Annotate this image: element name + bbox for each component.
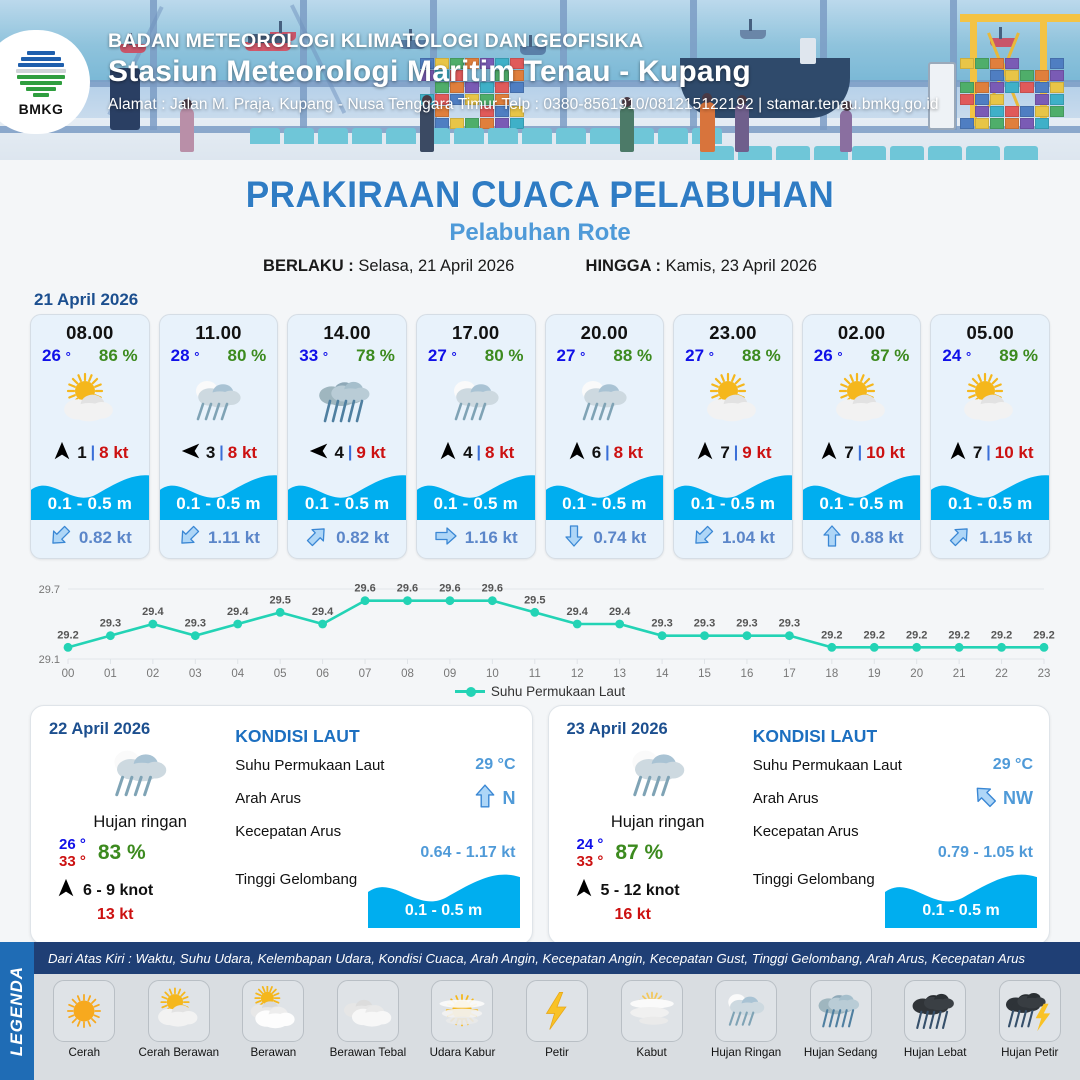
daily-wind-range: 6 - 9 knot (83, 882, 153, 900)
card-time: 02.00 (803, 315, 921, 344)
card-wind-speed: 10 kt (995, 443, 1034, 463)
card-temp-humidity-row: 26 ° 86 % (31, 344, 149, 366)
daily-left: 23 April 2026 Hujan ringan 24 ° 33 ° 87 … (549, 706, 749, 944)
card-wind-direction-value: 3 (206, 443, 215, 463)
card-wave-height: 0.1 - 0.5 m (931, 494, 1049, 514)
legend-item: Berawan Tebal (322, 980, 415, 1080)
card-wind-direction-value: 7 (720, 443, 729, 463)
card-current-row: 1.15 kt (931, 522, 1049, 554)
hourly-card: 08.00 26 ° 86 % 1 | 8 kt 0.1 - 0.5 m 0.8 (30, 314, 150, 559)
svg-text:29.3: 29.3 (694, 618, 715, 630)
current-direction-row: Arah Arus NW (753, 783, 1033, 814)
svg-text:29.4: 29.4 (227, 606, 249, 618)
legend-item: Kabut (605, 980, 698, 1080)
card-time: 23.00 (674, 315, 792, 344)
card-humidity: 88 % (613, 346, 652, 366)
wind-direction-arrow-icon (180, 440, 202, 467)
hourly-card: 14.00 33 ° 78 % 4 | 9 kt 0.1 - 0.5 m (287, 314, 407, 559)
current-direction-arrow-icon (562, 524, 586, 553)
card-wind-speed: 9 kt (742, 443, 771, 463)
svg-text:29.4: 29.4 (609, 606, 631, 618)
svg-text:17: 17 (783, 668, 796, 680)
svg-text:29.5: 29.5 (269, 594, 290, 606)
current-direction-value-group: N (472, 783, 516, 814)
card-temperature: 28 ° (171, 346, 200, 366)
daily-date: 22 April 2026 (49, 720, 231, 739)
wind-direction-arrow-icon (55, 877, 77, 904)
hujan-ringan-icon (715, 980, 777, 1042)
legend-item-label: Hujan Sedang (804, 1046, 878, 1059)
svg-text:20: 20 (910, 668, 923, 680)
svg-text:11: 11 (529, 668, 541, 680)
card-wave-graphic: 0.1 - 0.5 m (931, 468, 1049, 520)
svg-text:29.3: 29.3 (779, 618, 800, 630)
hourly-card: 23.00 27 ° 88 % 7 | 9 kt 0.1 - 0.5 m 1.0 (673, 314, 793, 559)
card-humidity: 78 % (356, 346, 395, 366)
daily-temp-humidity-row: 24 ° 33 ° 87 % (567, 836, 749, 870)
cerah-berawan-icon (148, 980, 210, 1042)
card-wind-separator: | (219, 444, 223, 462)
card-temp-humidity-row: 33 ° 78 % (288, 344, 406, 366)
svg-text:16: 16 (741, 668, 754, 680)
card-wind-speed: 8 kt (614, 443, 643, 463)
sst-label: Suhu Permukaan Laut (753, 757, 902, 774)
current-direction-arrow-icon (472, 783, 498, 814)
card-wind-direction-value: 6 (592, 443, 601, 463)
card-current-speed: 0.88 kt (851, 528, 904, 548)
legend-item: Berawan (227, 980, 320, 1080)
current-direction-row: Arah Arus N (235, 783, 515, 814)
card-humidity: 80 % (228, 346, 267, 366)
card-wind-row: 3 | 8 kt (160, 438, 278, 468)
svg-text:01: 01 (104, 668, 117, 680)
card-time: 20.00 (546, 315, 664, 344)
berawan-icon (242, 980, 304, 1042)
daily-wind-row: 5 - 12 knot (567, 877, 749, 904)
card-current-speed: 1.16 kt (465, 528, 518, 548)
bmkg-logo-mark (15, 47, 67, 99)
current-direction-arrow-icon (305, 524, 329, 553)
card-wave-height: 0.1 - 0.5 m (546, 494, 664, 514)
card-temperature: 33 ° (299, 346, 328, 366)
card-wind-row: 4 | 8 kt (417, 438, 535, 468)
card-wind-direction-value: 7 (844, 443, 853, 463)
svg-text:10: 10 (486, 668, 499, 680)
current-direction-arrow-icon (691, 524, 715, 553)
daily-humidity: 83 % (98, 841, 146, 865)
hourly-card: 11.00 28 ° 80 % 3 | 8 kt 0.1 - 0.5 m 1.1 (159, 314, 279, 559)
card-current-row: 0.88 kt (803, 522, 921, 554)
current-speed-value: 0.64 - 1.17 kt (235, 844, 515, 862)
daily-wind-row: 6 - 9 knot (49, 877, 231, 904)
svg-text:07: 07 (359, 668, 372, 680)
svg-text:29.2: 29.2 (1033, 629, 1054, 641)
hourly-card: 20.00 27 ° 88 % 6 | 8 kt 0.1 - 0.5 m 0.7 (545, 314, 665, 559)
card-wave-graphic: 0.1 - 0.5 m (31, 468, 149, 520)
sea-condition-title: KONDISI LAUT (753, 726, 1033, 747)
card-wind-row: 6 | 8 kt (546, 438, 664, 468)
svg-text:14: 14 (656, 668, 669, 680)
legend-item: Udara Kabur (416, 980, 509, 1080)
svg-text:18: 18 (825, 668, 838, 680)
card-temp-humidity-row: 26 ° 87 % (803, 344, 921, 366)
svg-text:29.6: 29.6 (439, 583, 460, 595)
current-direction-arrow-icon (972, 783, 998, 814)
legend-item-label: Hujan Petir (1001, 1046, 1058, 1059)
daily-temp-min: 24 ° (577, 836, 604, 853)
hourly-card: 17.00 27 ° 80 % 4 | 8 kt 0.1 - 0.5 m 1.1 (416, 314, 536, 559)
svg-text:29.6: 29.6 (397, 583, 418, 595)
wind-direction-arrow-icon (694, 440, 716, 467)
petir-icon (526, 980, 588, 1042)
daily-gust: 13 kt (49, 906, 231, 924)
current-direction-arrow-icon (948, 524, 972, 553)
card-temperature: 26 ° (814, 346, 843, 366)
wave-height-label: Tinggi Gelombang (235, 871, 357, 888)
sst-label: Suhu Permukaan Laut (235, 757, 384, 774)
card-temp-humidity-row: 27 ° 88 % (674, 344, 792, 366)
cerah-icon (53, 980, 115, 1042)
legend-note: Dari Atas Kiri : Waktu, Suhu Udara, Kele… (48, 951, 1025, 966)
legend-side-label: LEGENDA (7, 966, 27, 1056)
card-wind-direction-value: 1 (77, 443, 86, 463)
card-humidity: 89 % (999, 346, 1038, 366)
cerah-berawan-icon (31, 368, 149, 436)
svg-text:13: 13 (613, 668, 626, 680)
card-wind-separator: | (986, 444, 990, 462)
svg-text:29.3: 29.3 (185, 618, 206, 630)
card-wave-height: 0.1 - 0.5 m (417, 494, 535, 514)
card-wave-graphic: 0.1 - 0.5 m (803, 468, 921, 520)
card-wind-speed: 8 kt (485, 443, 514, 463)
svg-text:09: 09 (444, 668, 457, 680)
card-wind-direction-value: 4 (463, 443, 472, 463)
legend-item-label: Hujan Ringan (711, 1046, 781, 1059)
station-address: Alamat : Jalan M. Praja, Kupang - Nusa T… (108, 96, 939, 114)
svg-text:15: 15 (698, 668, 711, 680)
daily-left: 22 April 2026 Hujan ringan 26 ° 33 ° 83 … (31, 706, 231, 944)
current-direction-arrow-icon (434, 524, 458, 553)
current-speed-row: Kecepatan Arus (235, 823, 515, 840)
legend-icon-list: Cerah Cerah Berawan Berawan (34, 974, 1080, 1080)
station-name: Stasiun Meteorologi Maritim Tenau - Kupa… (108, 55, 939, 89)
svg-text:00: 00 (62, 668, 75, 680)
svg-text:12: 12 (571, 668, 584, 680)
card-wave-graphic: 0.1 - 0.5 m (288, 468, 406, 520)
current-direction-arrow-icon (177, 524, 201, 553)
svg-text:23: 23 (1038, 668, 1051, 680)
daily-panel: 23 April 2026 Hujan ringan 24 ° 33 ° 87 … (548, 705, 1051, 945)
wave-height-label: Tinggi Gelombang (753, 871, 875, 888)
current-direction-arrow-icon (48, 524, 72, 553)
sea-condition-title: KONDISI LAUT (235, 726, 515, 747)
legend-item-label: Hujan Lebat (904, 1046, 967, 1059)
validity-row: BERLAKU : Selasa, 21 April 2026 HINGGA :… (0, 257, 1080, 276)
svg-text:03: 03 (189, 668, 202, 680)
kabut-icon (621, 980, 683, 1042)
bmkg-logo-text: BMKG (19, 101, 64, 117)
svg-text:29.5: 29.5 (524, 594, 545, 606)
card-temp-humidity-row: 27 ° 80 % (417, 344, 535, 366)
card-wave-graphic: 0.1 - 0.5 m (674, 468, 792, 520)
daily-right: KONDISI LAUT Suhu Permukaan Laut 29 °C A… (231, 706, 531, 944)
svg-text:29.2: 29.2 (991, 629, 1012, 641)
legend-item-label: Berawan (250, 1046, 296, 1059)
legend-item: Hujan Petir (983, 980, 1076, 1080)
sst-value: 29 °C (993, 756, 1033, 774)
current-direction-label: Arah Arus (753, 790, 819, 807)
legend-item-label: Petir (545, 1046, 569, 1059)
card-humidity: 80 % (485, 346, 524, 366)
svg-text:29.3: 29.3 (736, 618, 757, 630)
svg-text:29.2: 29.2 (864, 629, 885, 641)
card-wind-row: 7 | 10 kt (803, 438, 921, 468)
svg-text:29.4: 29.4 (312, 606, 334, 618)
card-current-row: 0.82 kt (288, 522, 406, 554)
current-speed-label: Kecepatan Arus (235, 823, 341, 840)
hujan-petir-icon (999, 980, 1061, 1042)
legend-note-bar: Dari Atas Kiri : Waktu, Suhu Udara, Kele… (34, 942, 1080, 974)
card-current-row: 0.74 kt (546, 522, 664, 554)
daily-condition: Hujan ringan (49, 813, 231, 832)
card-temperature: 24 ° (942, 346, 971, 366)
card-wave-height: 0.1 - 0.5 m (674, 494, 792, 514)
valid-from-label: BERLAKU : (263, 257, 354, 275)
card-current-speed: 0.82 kt (79, 528, 132, 548)
card-current-row: 0.82 kt (31, 522, 149, 554)
svg-text:29.2: 29.2 (906, 629, 927, 641)
card-humidity: 87 % (871, 346, 910, 366)
hujan-ringan-icon (160, 368, 278, 436)
legend-item-label: Berawan Tebal (330, 1046, 407, 1059)
svg-text:02: 02 (146, 668, 159, 680)
current-direction-value: N (503, 788, 516, 809)
card-temperature: 27 ° (685, 346, 714, 366)
wind-direction-arrow-icon (573, 877, 595, 904)
card-time: 14.00 (288, 315, 406, 344)
card-wave-height: 0.1 - 0.5 m (803, 494, 921, 514)
card-wind-speed: 9 kt (356, 443, 385, 463)
hujan-lebat-icon (904, 980, 966, 1042)
svg-text:29.6: 29.6 (354, 583, 375, 595)
card-time: 05.00 (931, 315, 1049, 344)
card-wind-row: 4 | 9 kt (288, 438, 406, 468)
card-wind-row: 7 | 10 kt (931, 438, 1049, 468)
cerah-berawan-icon (674, 368, 792, 436)
card-humidity: 86 % (99, 346, 138, 366)
card-wave-graphic: 0.1 - 0.5 m (160, 468, 278, 520)
legend-item-label: Kabut (636, 1046, 666, 1059)
card-humidity: 88 % (742, 346, 781, 366)
card-temperature: 27 ° (428, 346, 457, 366)
wind-direction-arrow-icon (947, 440, 969, 467)
page-title: PRAKIRAAN CUACA PELABUHAN (27, 174, 1053, 216)
card-current-row: 1.04 kt (674, 522, 792, 554)
card-current-speed: 0.74 kt (593, 528, 646, 548)
svg-text:29.2: 29.2 (57, 629, 78, 641)
card-wind-speed: 10 kt (866, 443, 905, 463)
legend-item-label: Udara Kabur (430, 1046, 496, 1059)
card-temp-humidity-row: 24 ° 89 % (931, 344, 1049, 366)
valid-until-label: HINGGA : (586, 257, 661, 275)
card-current-row: 1.11 kt (160, 522, 278, 554)
daily-right: KONDISI LAUT Suhu Permukaan Laut 29 °C A… (749, 706, 1049, 944)
card-temperature: 27 ° (557, 346, 586, 366)
port-name: Pelabuhan Rote (0, 219, 1080, 247)
legend-item: Hujan Lebat (889, 980, 982, 1080)
daily-temp-humidity-row: 26 ° 33 ° 83 % (49, 836, 231, 870)
legend-item-label: Cerah Berawan (139, 1046, 220, 1059)
svg-text:29.2: 29.2 (948, 629, 969, 641)
svg-text:29.4: 29.4 (142, 606, 164, 618)
svg-text:08: 08 (401, 668, 414, 680)
current-speed-label: Kecepatan Arus (753, 823, 859, 840)
daily-gust: 16 kt (567, 906, 749, 924)
current-speed-value: 0.79 - 1.05 kt (753, 844, 1033, 862)
legend-item: Cerah Berawan (133, 980, 226, 1080)
card-wind-speed: 8 kt (99, 443, 128, 463)
daily-wave-graphic: 0.1 - 0.5 m (885, 866, 1037, 928)
svg-text:06: 06 (316, 668, 329, 680)
wind-direction-arrow-icon (308, 440, 330, 467)
valid-from-value: Selasa, 21 April 2026 (358, 257, 514, 275)
svg-text:19: 19 (868, 668, 881, 680)
legend-item-label: Cerah (68, 1046, 100, 1059)
card-wind-separator: | (477, 444, 481, 462)
daily-panel: 22 April 2026 Hujan ringan 26 ° 33 ° 83 … (30, 705, 533, 945)
current-direction-label: Arah Arus (235, 790, 301, 807)
daily-wave-graphic: 0.1 - 0.5 m (368, 866, 520, 928)
daily-temp-max: 33 ° (577, 853, 604, 870)
card-time: 17.00 (417, 315, 535, 344)
svg-text:29.2: 29.2 (821, 629, 842, 641)
hourly-card: 05.00 24 ° 89 % 7 | 10 kt 0.1 - 0.5 m 1. (930, 314, 1050, 559)
svg-text:22: 22 (995, 668, 1008, 680)
daily-forecast-panels: 22 April 2026 Hujan ringan 26 ° 33 ° 83 … (0, 699, 1080, 945)
card-current-speed: 0.82 kt (336, 528, 389, 548)
current-speed-row: Kecepatan Arus (753, 823, 1033, 840)
svg-text:29.4: 29.4 (567, 606, 589, 618)
daily-temp-min: 26 ° (59, 836, 86, 853)
card-wind-direction-value: 4 (334, 443, 343, 463)
daily-temp-max: 33 ° (59, 853, 86, 870)
agency-name: BADAN METEOROLOGI KLIMATOLOGI DAN GEOFIS… (108, 30, 939, 53)
sst-row: Suhu Permukaan Laut 29 °C (235, 756, 515, 774)
legend-item: Hujan Ringan (700, 980, 793, 1080)
card-wave-height: 0.1 - 0.5 m (160, 494, 278, 514)
card-wave-height: 0.1 - 0.5 m (288, 494, 406, 514)
current-direction-value-group: NW (972, 783, 1033, 814)
legend-side-title: LEGENDA (0, 942, 34, 1080)
wind-direction-arrow-icon (818, 440, 840, 467)
current-direction-value: NW (1003, 788, 1033, 809)
legend-item: Petir (511, 980, 604, 1080)
daily-date: 23 April 2026 (567, 720, 749, 739)
card-wave-height: 0.1 - 0.5 m (31, 494, 149, 514)
daily-humidity: 87 % (615, 841, 663, 865)
sst-value: 29 °C (475, 756, 515, 774)
sst-row: Suhu Permukaan Laut 29 °C (753, 756, 1033, 774)
svg-text:04: 04 (231, 668, 244, 680)
hourly-forecast-cards: 08.00 26 ° 86 % 1 | 8 kt 0.1 - 0.5 m 0.8 (0, 314, 1080, 559)
card-wave-graphic: 0.1 - 0.5 m (546, 468, 664, 520)
hujan-sedang-icon (288, 368, 406, 436)
card-wind-row: 1 | 8 kt (31, 438, 149, 468)
card-wind-separator: | (734, 444, 738, 462)
card-wind-separator: | (605, 444, 609, 462)
card-current-speed: 1.11 kt (208, 528, 260, 548)
hujan-ringan-icon (49, 741, 231, 809)
daily-wave-value: 0.1 - 0.5 m (885, 902, 1037, 920)
page-header: BMKG BADAN METEOROLOGI KLIMATOLOGI DAN G… (0, 0, 1080, 160)
card-wave-graphic: 0.1 - 0.5 m (417, 468, 535, 520)
daily-wave-value: 0.1 - 0.5 m (368, 902, 520, 920)
wind-direction-arrow-icon (437, 440, 459, 467)
cerah-berawan-icon (803, 368, 921, 436)
card-wind-speed: 8 kt (228, 443, 257, 463)
card-temp-humidity-row: 27 ° 88 % (546, 344, 664, 366)
hourly-date-label: 21 April 2026 (34, 290, 1080, 310)
hujan-ringan-icon (417, 368, 535, 436)
card-wind-row: 7 | 9 kt (674, 438, 792, 468)
header-text-block: BADAN METEOROLOGI KLIMATOLOGI DAN GEOFIS… (108, 30, 939, 114)
card-wind-direction-value: 7 (973, 443, 982, 463)
wind-direction-arrow-icon (566, 440, 588, 467)
cerah-berawan-icon (931, 368, 1049, 436)
hujan-sedang-icon (810, 980, 872, 1042)
wind-direction-arrow-icon (51, 440, 73, 467)
daily-wind-range: 5 - 12 knot (601, 882, 680, 900)
udara-kabur-icon (431, 980, 493, 1042)
card-time: 08.00 (31, 315, 149, 344)
berawan-tebal-icon (337, 980, 399, 1042)
legend-item: Cerah (38, 980, 131, 1080)
svg-text:21: 21 (953, 668, 966, 680)
card-time: 11.00 (160, 315, 278, 344)
sst-chart: 29.729.129.20029.30129.40229.30329.40429… (22, 573, 1058, 688)
card-current-speed: 1.15 kt (979, 528, 1032, 548)
legend-item: Hujan Sedang (794, 980, 887, 1080)
card-temperature: 26 ° (42, 346, 71, 366)
svg-text:29.6: 29.6 (482, 583, 503, 595)
card-temp-humidity-row: 28 ° 80 % (160, 344, 278, 366)
card-wind-separator: | (858, 444, 862, 462)
hujan-ringan-icon (546, 368, 664, 436)
svg-text:29.7: 29.7 (39, 584, 60, 596)
card-wind-separator: | (91, 444, 95, 462)
valid-until-value: Kamis, 23 April 2026 (666, 257, 817, 275)
sst-chart-svg: 29.729.129.20029.30129.40229.30329.40429… (22, 573, 1058, 685)
svg-text:29.3: 29.3 (651, 618, 672, 630)
svg-text:29.1: 29.1 (39, 654, 60, 666)
svg-text:29.3: 29.3 (100, 618, 121, 630)
card-current-row: 1.16 kt (417, 522, 535, 554)
hujan-ringan-icon (567, 741, 749, 809)
daily-condition: Hujan ringan (567, 813, 749, 832)
legend-bar: LEGENDA Dari Atas Kiri : Waktu, Suhu Uda… (0, 942, 1080, 1080)
current-direction-arrow-icon (820, 524, 844, 553)
svg-text:05: 05 (274, 668, 287, 680)
chart-legend-marker (455, 690, 485, 693)
hourly-card: 02.00 26 ° 87 % 7 | 10 kt 0.1 - 0.5 m 0. (802, 314, 922, 559)
title-block: PRAKIRAAN CUACA PELABUHAN Pelabuhan Rote… (0, 160, 1080, 276)
card-wind-separator: | (348, 444, 352, 462)
card-current-speed: 1.04 kt (722, 528, 775, 548)
